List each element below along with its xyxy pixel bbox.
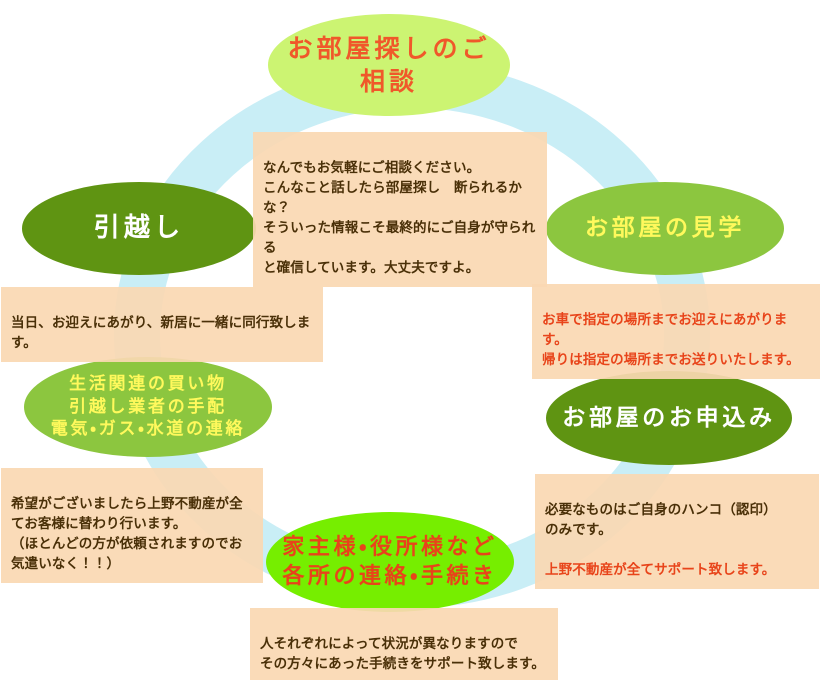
node-step-6-label: 引越し xyxy=(94,211,184,245)
caption-step-1-text: なんでもお気軽にご相談ください。 こんなこと話したら部屋探し 断られるかな？ そ… xyxy=(263,160,535,276)
node-step-5-label: 生活関連の買い物 引越し業者の手配 電気・ガス・水道の連絡 xyxy=(51,373,245,440)
node-step-4-label: 家主様・役所様など 各所の連絡・手続き xyxy=(282,533,497,591)
node-step-2-label: お部屋の見学 xyxy=(585,213,745,243)
caption-step-6-text: 当日、お迎えにあがり、新居に一緒に同行致します。 xyxy=(11,315,310,351)
caption-step-6: 当日、お迎えにあがり、新居に一緒に同行致します。 xyxy=(1,287,323,362)
node-step-5-life-setup[interactable]: 生活関連の買い物 引越し業者の手配 電気・ガス・水道の連絡 xyxy=(24,357,272,457)
caption-step-4-text: 人それぞれによって状況が異なりますので その方々にあった手続きをサポート致します… xyxy=(260,636,545,672)
node-step-6-moving[interactable]: 引越し xyxy=(22,182,256,275)
caption-step-3-accent-text: 上野不動産が全てサポート致します。 xyxy=(545,562,775,578)
node-step-1-label: お部屋探しのご相談 xyxy=(278,32,500,98)
caption-step-3-text: 必要なものはご自身のハンコ（認印） のみです。 xyxy=(545,502,777,538)
process-flow-diagram: お部屋探しのご相談 なんでもお気軽にご相談ください。 こんなこと話したら部屋探し… xyxy=(0,0,825,680)
node-step-4-contacts[interactable]: 家主様・役所様など 各所の連絡・手続き xyxy=(266,512,514,612)
node-step-3-label: お部屋のお申込み xyxy=(562,403,775,433)
caption-step-1: なんでもお気軽にご相談ください。 こんなこと話したら部屋探し 断られるかな？ そ… xyxy=(253,132,547,287)
caption-step-3: 必要なものはご自身のハンコ（認印） のみです。 上野不動産が全てサポート致します… xyxy=(535,474,819,589)
caption-step-4: 人それぞれによって状況が異なりますので その方々にあった手続きをサポート致します… xyxy=(250,608,558,680)
caption-step-5: 希望がございましたら上野不動産が全 てお客様に替わり行います。 （ほとんどの方が… xyxy=(1,468,263,583)
node-step-3-application[interactable]: お部屋のお申込み xyxy=(546,371,792,465)
caption-step-2: お車で指定の場所までお迎えにあがります。 帰りは指定の場所までお送りいたします。 xyxy=(532,284,820,379)
node-step-2-viewing[interactable]: お部屋の見学 xyxy=(546,182,784,275)
caption-step-2-text: お車で指定の場所までお迎えにあがります。 帰りは指定の場所までお送りいたします。 xyxy=(542,312,800,368)
caption-step-5-text: 希望がございましたら上野不動産が全 てお客様に替わり行います。 （ほとんどの方が… xyxy=(11,496,243,572)
node-step-1-consultation[interactable]: お部屋探しのご相談 xyxy=(268,14,510,116)
